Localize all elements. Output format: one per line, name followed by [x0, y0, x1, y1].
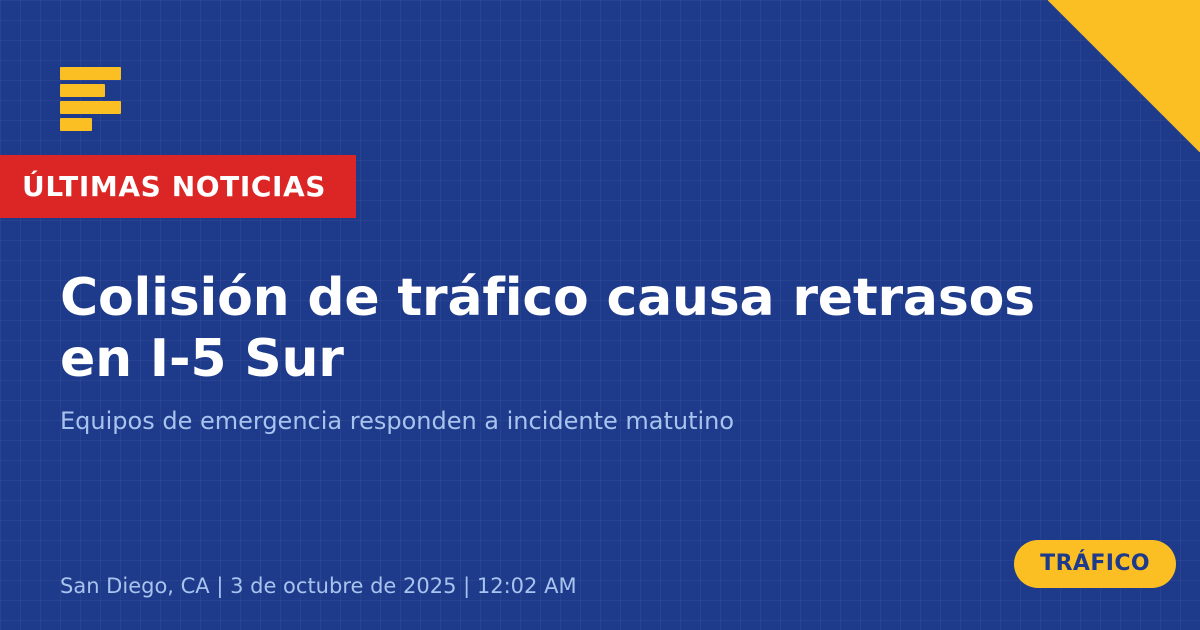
logo-bar-2: [60, 84, 105, 97]
logo-bar-3: [60, 101, 121, 114]
footer-meta-line: San Diego, CA | 3 de octubre de 2025 | 1…: [60, 574, 577, 599]
subtitle-text: Equipos de emergencia responden a incide…: [60, 406, 1060, 437]
logo-bar-1: [60, 67, 121, 80]
category-badge-label: TRÁFICO: [1040, 553, 1150, 575]
breaking-news-badge: ÚLTIMAS NOTICIAS: [0, 155, 356, 218]
breaking-news-card: ÚLTIMAS NOTICIAS Colisión de tráfico cau…: [0, 0, 1200, 630]
brand-logo: [60, 67, 135, 131]
headline-text: Colisión de tráfico causa retrasos en I-…: [60, 268, 1120, 391]
breaking-news-badge-label: ÚLTIMAS NOTICIAS: [22, 173, 326, 201]
category-badge: TRÁFICO: [1014, 540, 1176, 588]
top-right-yellow-triangle-icon: [1048, 0, 1200, 152]
logo-bar-4: [60, 118, 92, 131]
